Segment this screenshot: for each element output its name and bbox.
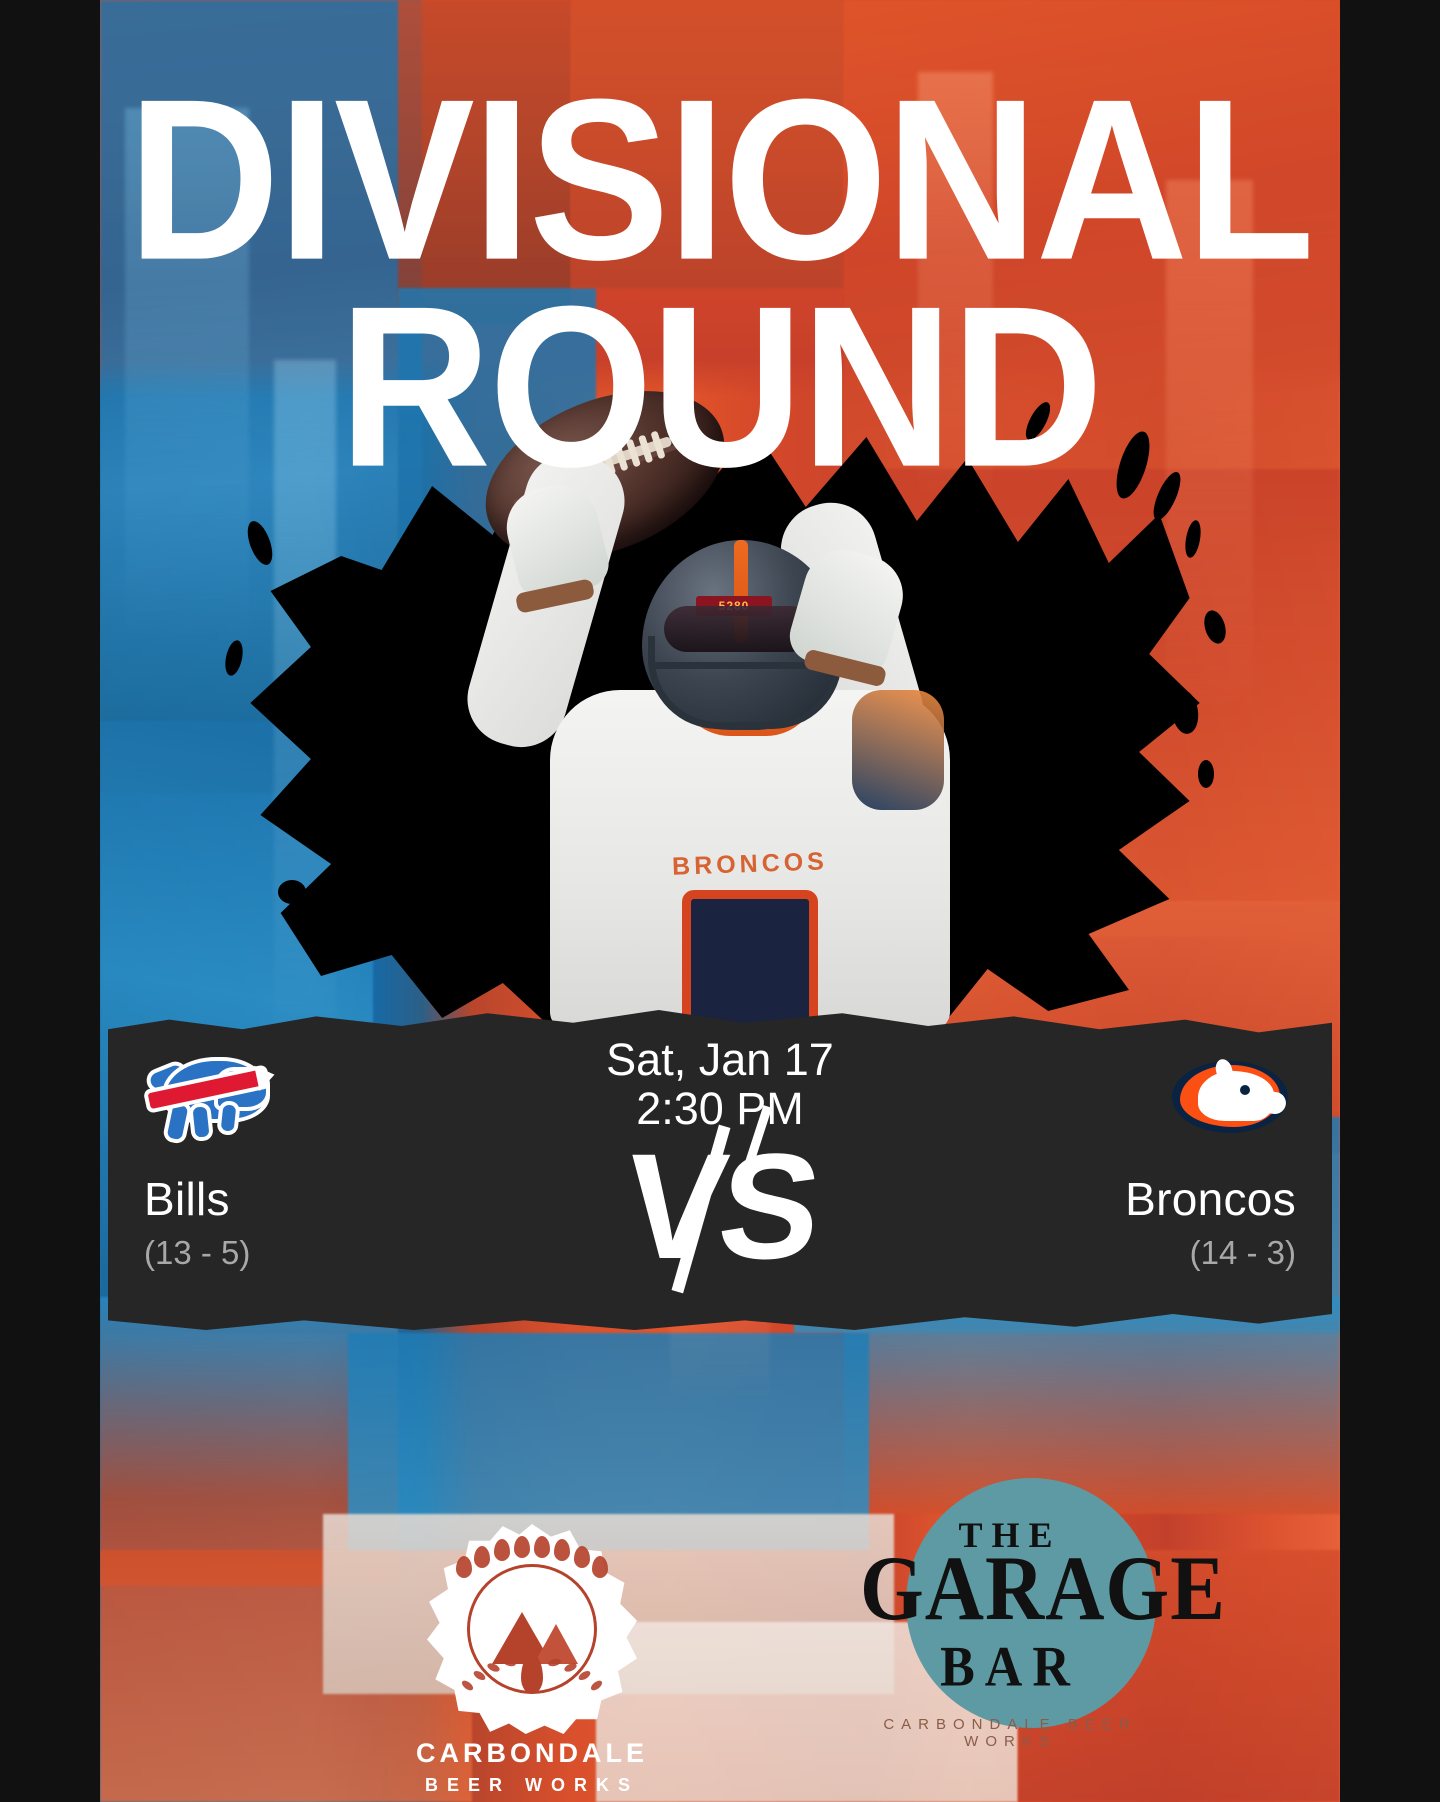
bills-buffalo-logo-icon [144, 1055, 276, 1141]
vs-badge: VS [510, 1131, 930, 1291]
home-team-name: Broncos [966, 1172, 1296, 1226]
home-team-block: Broncos (14 - 3) [966, 1052, 1296, 1272]
ink-drop [362, 930, 382, 948]
vs-label: VS [618, 1131, 822, 1281]
matchup-center-block: Sat, Jan 17 2:30 PM VS [510, 1036, 930, 1291]
away-team-block: Bills (13 - 5) [144, 1052, 474, 1272]
player-shoulder-pad [852, 690, 944, 810]
garage-bar-bar: BAR [860, 1635, 1160, 1700]
away-team-record: (13 - 5) [144, 1234, 474, 1272]
the-garage-bar-logo: THE GARAGE BAR CARBONDALE BEER WORKS [860, 1478, 1160, 1778]
football-player-image: BRONCOS 5280 [400, 390, 1020, 1030]
home-team-record: (14 - 3) [966, 1234, 1296, 1272]
garage-bar-garage: GARAGE [860, 1536, 1160, 1641]
divisional-round-poster: BRONCOS 5280 DIVISIONAL ROUND [100, 0, 1340, 1802]
away-team-name: Bills [144, 1172, 474, 1226]
broncos-horse-logo-icon [1164, 1055, 1296, 1141]
broncos-logo-wrap [966, 1052, 1296, 1144]
game-date: Sat, Jan 17 [510, 1036, 930, 1085]
sponsor-row: CARBONDALE BEER WORKS THE GARAGE BAR CAR… [100, 1342, 1340, 1802]
jersey-team-word: BRONCOS [672, 847, 829, 881]
carbondale-name-line-1: CARBONDALE [412, 1738, 652, 1769]
ink-drop [1198, 760, 1214, 788]
gear-icon [427, 1524, 637, 1734]
carbondale-name-line-2: BEER WORKS [412, 1775, 652, 1796]
bills-logo-wrap [144, 1052, 474, 1144]
matchup-panel: Bills (13 - 5) Sat, Jan 17 2:30 PM VS [108, 1010, 1332, 1330]
garage-bar-subtitle: CARBONDALE BEER WORKS [860, 1716, 1160, 1750]
ink-drop [278, 880, 306, 904]
wheat-laurel-icon [457, 1656, 607, 1700]
carbondale-beer-works-logo: CARBONDALE BEER WORKS [412, 1524, 652, 1796]
